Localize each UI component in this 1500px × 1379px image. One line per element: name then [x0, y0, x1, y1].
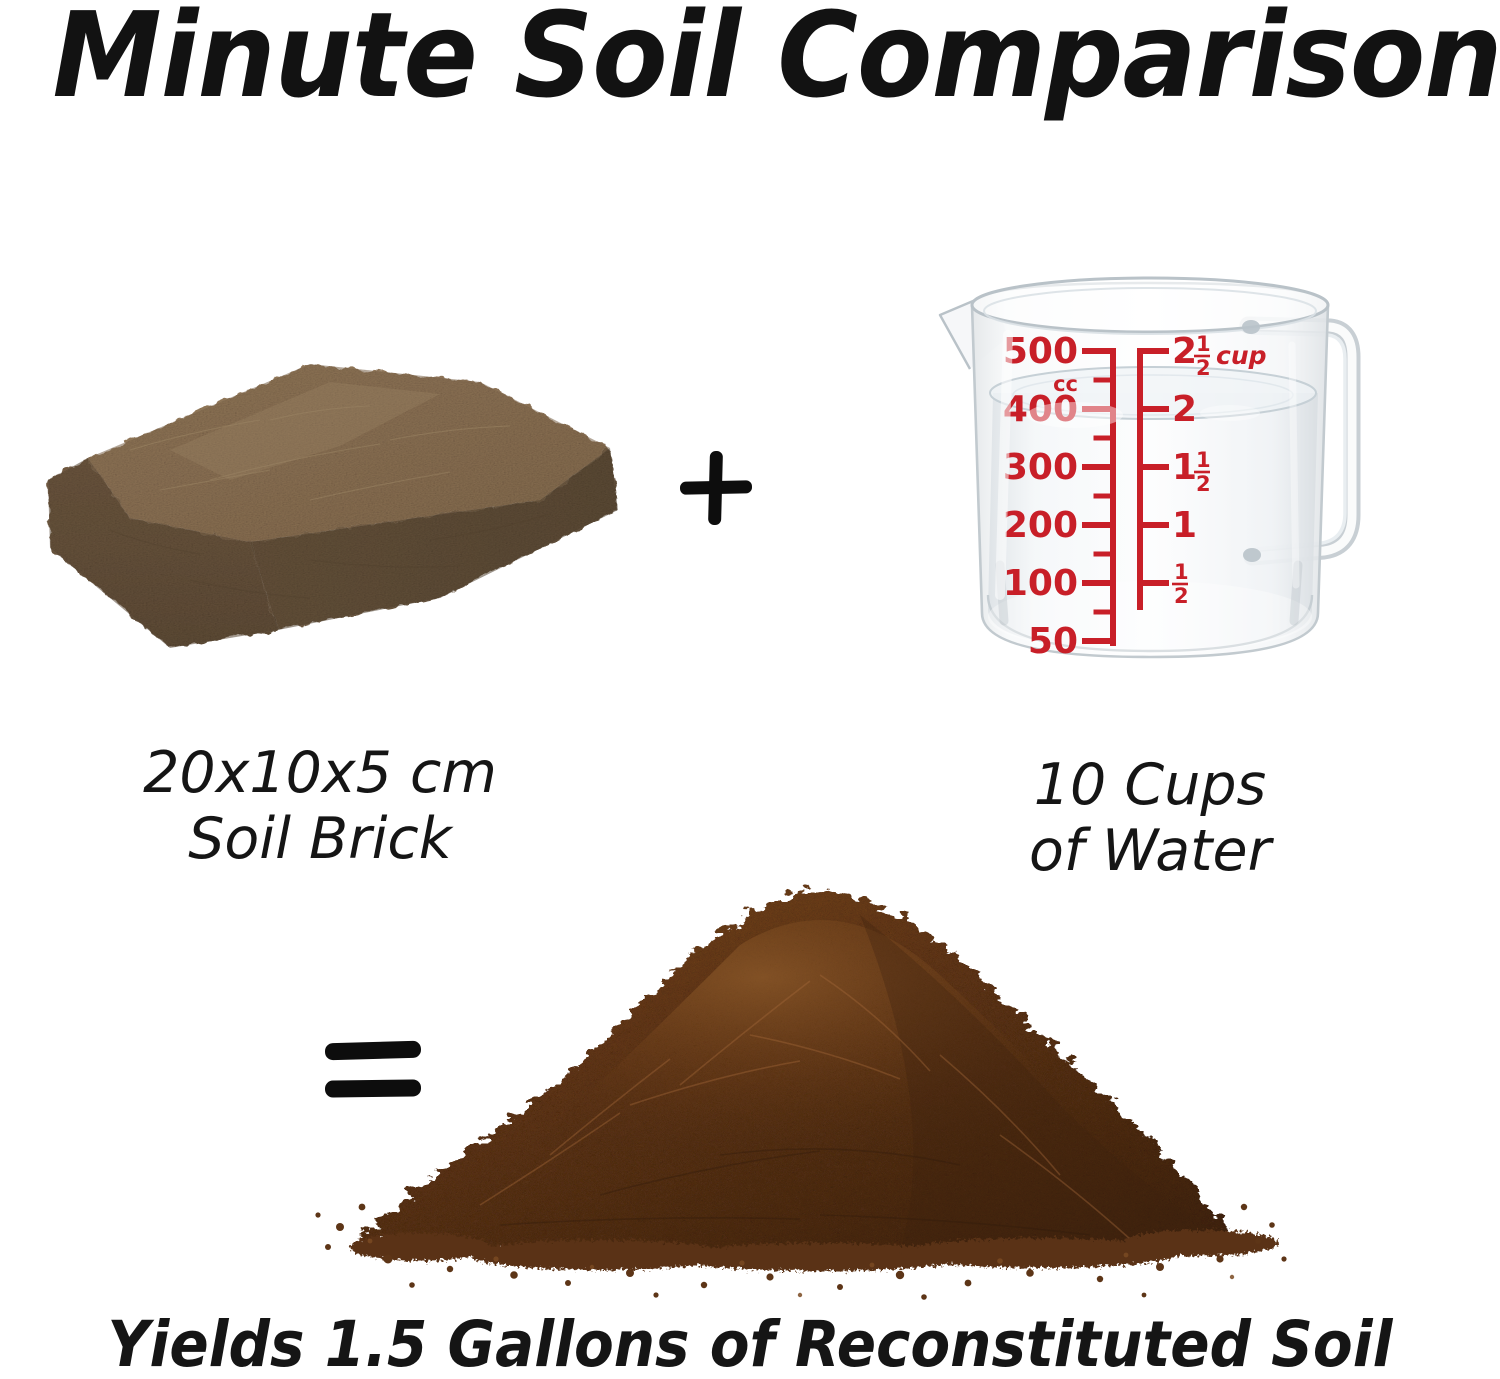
brick-caption: 20x10x5 cm Soil Brick [20, 740, 620, 872]
svg-text:2: 2 [1174, 584, 1189, 608]
svg-text:100: 100 [1003, 563, 1078, 604]
svg-text:2: 2 [1172, 331, 1197, 372]
svg-text:2: 2 [1172, 389, 1197, 430]
svg-text:cup: cup [1216, 341, 1267, 370]
svg-text:2: 2 [1196, 472, 1211, 496]
infographic-page: Minute Soil Comparison [0, 0, 1500, 1379]
svg-text:1: 1 [1172, 447, 1197, 488]
svg-text:1: 1 [1196, 332, 1211, 356]
yield-caption: Yields 1.5 Gallons of Reconstituted Soil [60, 1308, 1440, 1379]
measuring-cup-image: 500 cc 400 300 200 100 50 2 1 2 cup 2 1 … [900, 265, 1400, 685]
svg-text:500: 500 [1003, 331, 1078, 372]
svg-text:300: 300 [1003, 447, 1078, 488]
soil-brick-image [10, 330, 635, 670]
svg-text:200: 200 [1003, 505, 1078, 546]
svg-text:1: 1 [1196, 448, 1211, 472]
svg-text:2: 2 [1196, 356, 1211, 380]
soil-pile-image [300, 855, 1290, 1305]
svg-text:50: 50 [1028, 621, 1078, 662]
plus-operator [678, 450, 754, 526]
page-title: Minute Soil Comparison [53, 0, 1448, 118]
svg-text:1: 1 [1174, 560, 1189, 584]
plus-vertical-bar [708, 451, 723, 525]
svg-text:1: 1 [1172, 505, 1197, 546]
